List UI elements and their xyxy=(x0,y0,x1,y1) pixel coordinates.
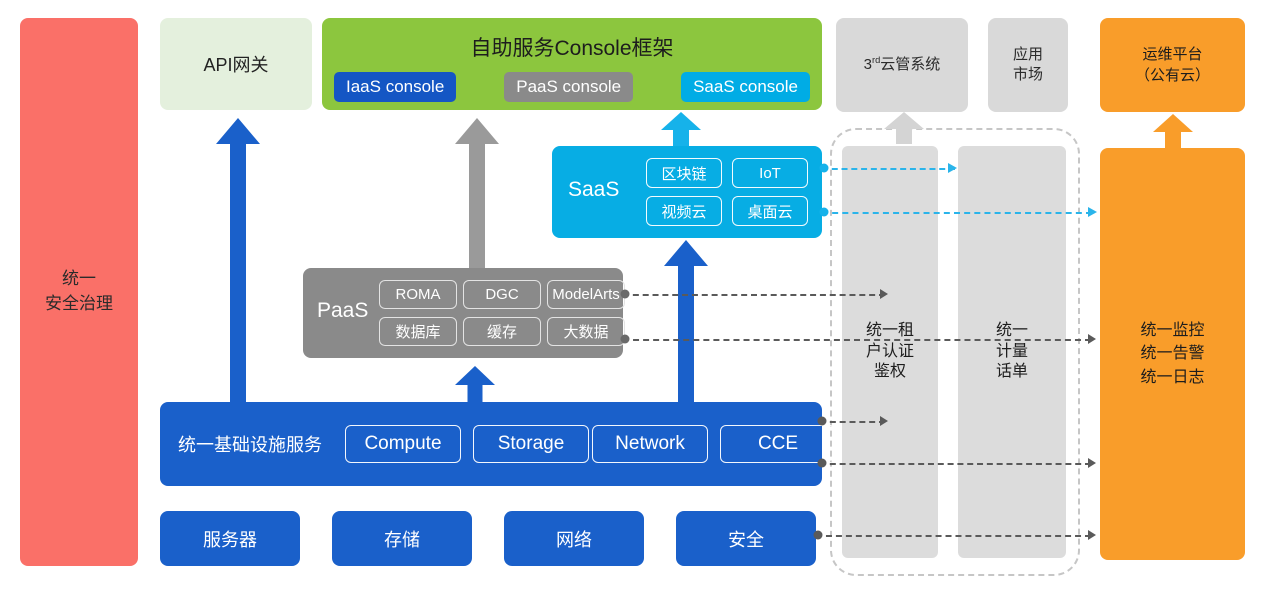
connector-infra-to-tenant-auth xyxy=(820,421,885,423)
ops-top-line-1: 运维平台 xyxy=(1135,44,1210,65)
connector-arrow-saas-to-metering xyxy=(948,163,957,173)
tenant-auth-line-2: 户认证 xyxy=(866,342,914,363)
paas-item-database[interactable]: 数据库 xyxy=(379,317,457,346)
third-party-suffix: 云管系统 xyxy=(880,56,940,73)
third-party-prefix: 3 xyxy=(864,56,872,73)
saas-item-video-cloud[interactable]: 视频云 xyxy=(646,196,722,226)
panel-console-framework: 自助服务Console框架 IaaS console PaaS console … xyxy=(322,18,822,110)
saas-label: SaaS xyxy=(568,178,619,202)
app-market-line-2: 市场 xyxy=(1013,65,1043,85)
connector-dot-saas-lower xyxy=(820,208,829,217)
arrow-ops-to-ops-platform xyxy=(1153,114,1193,148)
arrow-infra-to-paas xyxy=(455,366,495,402)
ops-line-1: 统一监控 xyxy=(1140,319,1204,342)
arrow-paas-to-console xyxy=(455,118,499,268)
panel-3rd-cloud-management: 3rd云管系统 xyxy=(836,18,968,112)
api-gateway-label: API网关 xyxy=(203,51,268,77)
panel-api-gateway: API网关 xyxy=(160,18,312,110)
saas-item-iot[interactable]: IoT xyxy=(732,158,808,188)
connector-dot-infra-lower xyxy=(818,459,827,468)
connector-infra-to-ops xyxy=(820,463,1091,465)
column-unified-metering: 统一 计量 话单 xyxy=(958,146,1066,558)
connector-paas-to-tenant-auth xyxy=(623,294,885,296)
hardware-network[interactable]: 网络 xyxy=(504,511,644,566)
connector-arrow-paas-to-tenant-auth xyxy=(880,289,888,299)
connector-dot-hardware xyxy=(814,531,823,540)
connector-dot-paas-upper xyxy=(621,290,630,299)
panel-ops-platform-public-cloud: 运维平台 （公有云） xyxy=(1100,18,1245,112)
infrastructure-label: 统一基础设施服务 xyxy=(178,431,322,457)
panel-unified-security: 统一 安全治理 xyxy=(20,18,138,566)
panel-unified-infrastructure: 统一基础设施服务 Compute Storage Network CCE xyxy=(160,402,822,486)
ops-line-3: 统一日志 xyxy=(1140,366,1204,389)
app-market-line-1: 应用 xyxy=(1013,45,1043,65)
connector-dot-paas-lower xyxy=(621,335,630,344)
hardware-storage[interactable]: 存储 xyxy=(332,511,472,566)
connector-arrow-hardware-to-ops xyxy=(1088,530,1096,540)
connector-hardware-to-ops xyxy=(816,535,1091,537)
chip-paas-console[interactable]: PaaS console xyxy=(504,72,633,102)
hardware-server[interactable]: 服务器 xyxy=(160,511,300,566)
paas-item-dgc[interactable]: DGC xyxy=(463,280,541,309)
tenant-auth-line-3: 鉴权 xyxy=(866,362,914,383)
connector-arrow-saas-to-ops xyxy=(1088,207,1097,217)
paas-item-roma[interactable]: ROMA xyxy=(379,280,457,309)
panel-paas: PaaS ROMA DGC ModelArts 数据库 缓存 大数据 xyxy=(303,268,623,358)
arrow-infra-to-saas xyxy=(664,240,708,402)
connector-dot-infra-upper xyxy=(818,417,827,426)
connector-saas-to-ops xyxy=(822,212,1092,214)
paas-item-bigdata[interactable]: 大数据 xyxy=(547,317,625,346)
column-unified-tenant-auth: 统一租 户认证 鉴权 xyxy=(842,146,938,558)
connector-dot-saas-upper xyxy=(820,164,829,173)
saas-item-blockchain[interactable]: 区块链 xyxy=(646,158,722,188)
arrow-middle-to-3rd-cloud xyxy=(884,112,924,144)
arrow-infra-to-api-gateway xyxy=(216,118,260,402)
connector-arrow-paas-to-ops xyxy=(1088,334,1096,344)
security-line-2: 安全治理 xyxy=(45,292,113,317)
security-line-1: 统一 xyxy=(45,267,113,292)
ops-top-line-2: （公有云） xyxy=(1135,65,1210,86)
chip-iaas-console[interactable]: IaaS console xyxy=(334,72,456,102)
metering-line-3: 话单 xyxy=(996,362,1028,383)
arrow-saas-to-saas-console xyxy=(661,112,701,146)
panel-saas: SaaS 区块链 IoT 视频云 桌面云 xyxy=(552,146,822,238)
ops-line-2: 统一告警 xyxy=(1140,342,1204,365)
connector-arrow-infra-to-tenant-auth xyxy=(880,416,888,426)
infra-item-cce[interactable]: CCE xyxy=(720,425,836,463)
paas-label: PaaS xyxy=(317,299,368,323)
connector-arrow-infra-to-ops xyxy=(1088,458,1096,468)
chip-saas-console[interactable]: SaaS console xyxy=(681,72,810,102)
panel-app-market: 应用 市场 xyxy=(988,18,1068,112)
infra-item-network[interactable]: Network xyxy=(592,425,708,463)
infra-item-compute[interactable]: Compute xyxy=(345,425,461,463)
hardware-security[interactable]: 安全 xyxy=(676,511,816,566)
paas-item-modelarts[interactable]: ModelArts xyxy=(547,280,625,309)
architecture-diagram: 统一 安全治理 API网关 自助服务Console框架 IaaS console… xyxy=(0,0,1265,605)
infra-item-storage[interactable]: Storage xyxy=(473,425,589,463)
metering-line-2: 计量 xyxy=(996,342,1028,363)
connector-paas-to-ops xyxy=(623,339,1091,341)
connector-saas-to-metering xyxy=(822,168,955,170)
paas-item-cache[interactable]: 缓存 xyxy=(463,317,541,346)
console-framework-title: 自助服务Console框架 xyxy=(322,32,822,62)
saas-item-desktop-cloud[interactable]: 桌面云 xyxy=(732,196,808,226)
panel-unified-monitoring: 统一监控 统一告警 统一日志 xyxy=(1100,148,1245,560)
